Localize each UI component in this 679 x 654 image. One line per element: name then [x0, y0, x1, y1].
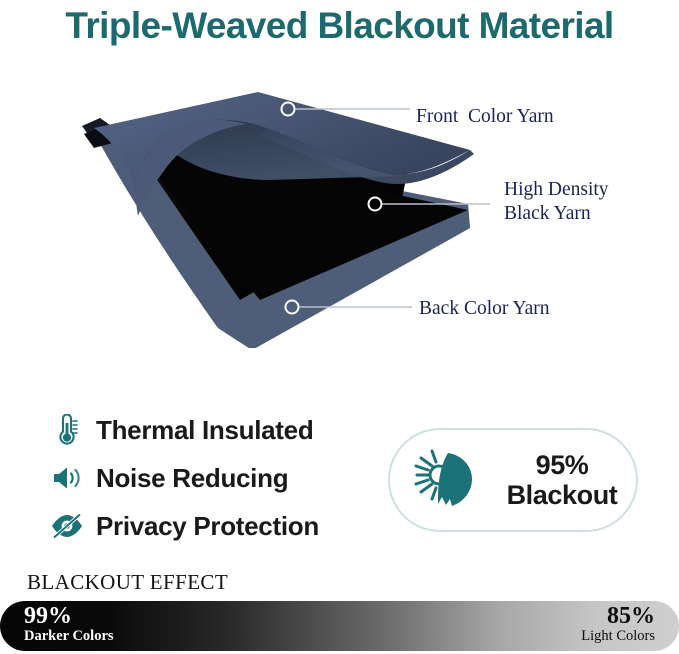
feature-label: Privacy Protection — [96, 511, 319, 542]
thermometer-icon — [50, 413, 84, 447]
darker-colors-caption: Darker Colors — [24, 629, 114, 644]
light-colors-caption: Light Colors — [581, 629, 655, 644]
darker-colors-percent: 99% — [24, 604, 114, 629]
blackout-caption: Blackout — [507, 480, 618, 510]
blackout-effect-left-stat: 99% Darker Colors — [24, 604, 114, 644]
callout-label-high-density-black-yarn: High Density Black Yarn — [504, 178, 609, 226]
light-colors-percent: 85% — [581, 604, 655, 629]
feature-label: Thermal Insulated — [96, 415, 313, 446]
callout-label-front-color-yarn: Front Color Yarn — [416, 105, 554, 129]
blackout-percent: 95% — [536, 450, 589, 480]
feature-item-thermal-insulated: Thermal Insulated — [50, 408, 380, 452]
blackout-badge-text: 95% Blackout — [488, 450, 636, 510]
feature-list: Thermal Insulated Noise Reducing Privacy… — [50, 408, 380, 552]
sun-blocked-curtain-icon — [408, 447, 480, 513]
speaker-wave-icon — [50, 461, 84, 495]
callout-label-back-color-yarn: Back Color Yarn — [419, 297, 550, 321]
blackout-effect-right-stat: 85% Light Colors — [581, 604, 655, 644]
page-title: Triple-Weaved Blackout Material — [0, 5, 679, 47]
feature-label: Noise Reducing — [96, 463, 288, 494]
blackout-badge: 95% Blackout — [388, 428, 638, 532]
feature-item-noise-reducing: Noise Reducing — [50, 456, 380, 500]
eye-slash-icon — [50, 509, 84, 543]
feature-item-privacy-protection: Privacy Protection — [50, 504, 380, 548]
blackout-effect-heading: BLACKOUT EFFECT — [27, 570, 228, 595]
